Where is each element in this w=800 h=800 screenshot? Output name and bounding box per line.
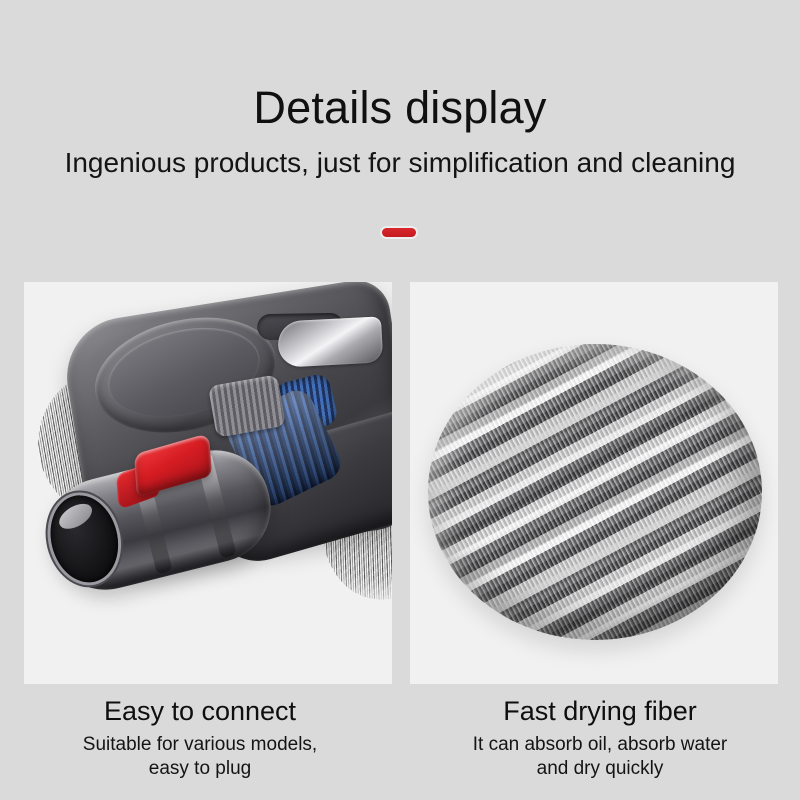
caption-description-line-1: It can absorb oil, absorb water: [473, 734, 728, 755]
caption-description-line-1: Suitable for various models,: [83, 734, 317, 755]
caption-fiber: Fast drying fiber It can absorb oil, abs…: [400, 696, 800, 781]
caption-title: Easy to connect: [0, 696, 400, 728]
page-subtitle: Ingenious products, just for simplificat…: [0, 131, 800, 179]
connector-tube-opening: [42, 488, 127, 589]
caption-description: Suitable for various models, easy to plu…: [0, 728, 400, 781]
feature-panel-connector: [24, 282, 392, 684]
microfiber-mop-pad-photo: [410, 282, 778, 684]
accent-divider-bar: [382, 228, 416, 237]
caption-connector: Easy to connect Suitable for various mod…: [0, 696, 400, 781]
header: Details display Ingenious products, just…: [0, 0, 800, 179]
feature-panel-fiber: [410, 282, 778, 684]
caption-description: It can absorb oil, absorb water and dry …: [400, 728, 800, 781]
caption-description-line-2: and dry quickly: [537, 758, 664, 779]
vacuum-head-connector-photo: [24, 282, 392, 684]
feature-panels: [24, 282, 778, 684]
product-detail-page: Details display Ingenious products, just…: [0, 0, 800, 800]
caption-description-line-2: easy to plug: [149, 758, 251, 779]
feature-captions: Easy to connect Suitable for various mod…: [0, 696, 800, 781]
caption-title: Fast drying fiber: [400, 696, 800, 728]
page-title: Details display: [0, 0, 800, 131]
vacuum-head-chrome-highlight: [277, 316, 383, 367]
microfiber-mop-pad: [428, 344, 762, 640]
